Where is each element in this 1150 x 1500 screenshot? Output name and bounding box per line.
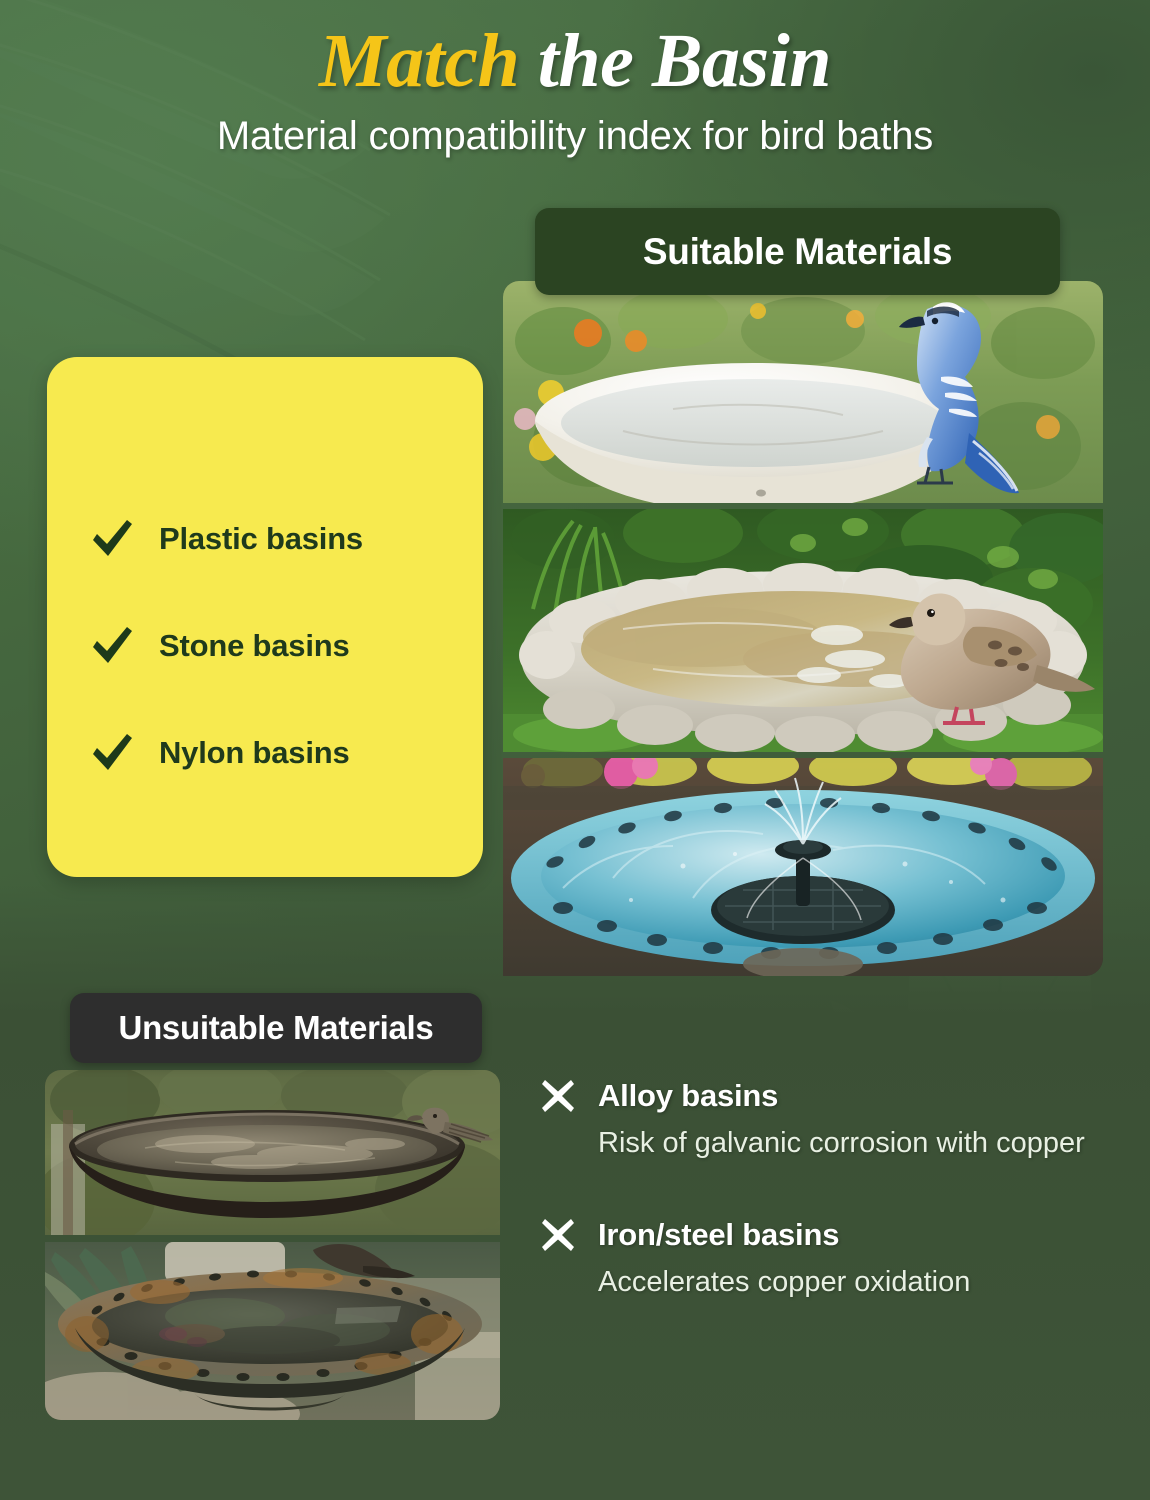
list-item: Nylon basins bbox=[47, 699, 483, 806]
suitable-item-label: Plastic basins bbox=[159, 521, 363, 557]
x-icon bbox=[540, 1078, 576, 1114]
list-item: Stone basins bbox=[47, 592, 483, 699]
photo-ceramic bbox=[503, 281, 1103, 503]
unsuitable-item-title: Iron/steel basins bbox=[598, 1217, 839, 1253]
list-item: Iron/steel basins Accelerates copper oxi… bbox=[540, 1217, 1130, 1300]
suitable-list: Plastic basins Stone basins Nylon basins bbox=[47, 485, 483, 806]
unsuitable-materials-badge: Unsuitable Materials bbox=[70, 993, 482, 1063]
list-item: Alloy basins Risk of galvanic corrosion … bbox=[540, 1078, 1130, 1161]
page-title: Match the Basin bbox=[0, 22, 1150, 102]
list-item: Plastic basins bbox=[47, 485, 483, 592]
unsuitable-item-desc: Risk of galvanic corrosion with copper bbox=[598, 1126, 1130, 1161]
unsuitable-item-desc: Accelerates copper oxidation bbox=[598, 1265, 1130, 1300]
unsuitable-item-title: Alloy basins bbox=[598, 1078, 778, 1114]
x-icon bbox=[540, 1217, 576, 1253]
unsuitable-item-head: Iron/steel basins bbox=[540, 1217, 1130, 1253]
suitable-item-label: Stone basins bbox=[159, 628, 350, 664]
unsuitable-item-head: Alloy basins bbox=[540, 1078, 1130, 1114]
suitable-materials-badge: Suitable Materials bbox=[535, 208, 1060, 295]
check-icon bbox=[89, 516, 135, 562]
photo-oxidized bbox=[45, 1242, 500, 1420]
suitable-materials-card: Plastic basins Stone basins Nylon basins bbox=[47, 357, 483, 877]
page-header: Match the Basin Material compatibility i… bbox=[0, 22, 1150, 159]
suitable-photo-column bbox=[503, 281, 1103, 976]
suitable-item-label: Nylon basins bbox=[159, 735, 350, 771]
unsuitable-list: Alloy basins Risk of galvanic corrosion … bbox=[540, 1078, 1130, 1357]
check-icon bbox=[89, 623, 135, 669]
check-icon bbox=[89, 730, 135, 776]
unsuitable-photo-column bbox=[45, 1070, 500, 1420]
photo-stone bbox=[503, 509, 1103, 752]
page-subtitle: Material compatibility index for bird ba… bbox=[0, 114, 1150, 159]
photo-rusty-bowl bbox=[45, 1070, 500, 1235]
title-highlight: Match bbox=[319, 19, 519, 103]
photo-fountain bbox=[503, 758, 1103, 976]
title-rest: the Basin bbox=[538, 19, 831, 103]
